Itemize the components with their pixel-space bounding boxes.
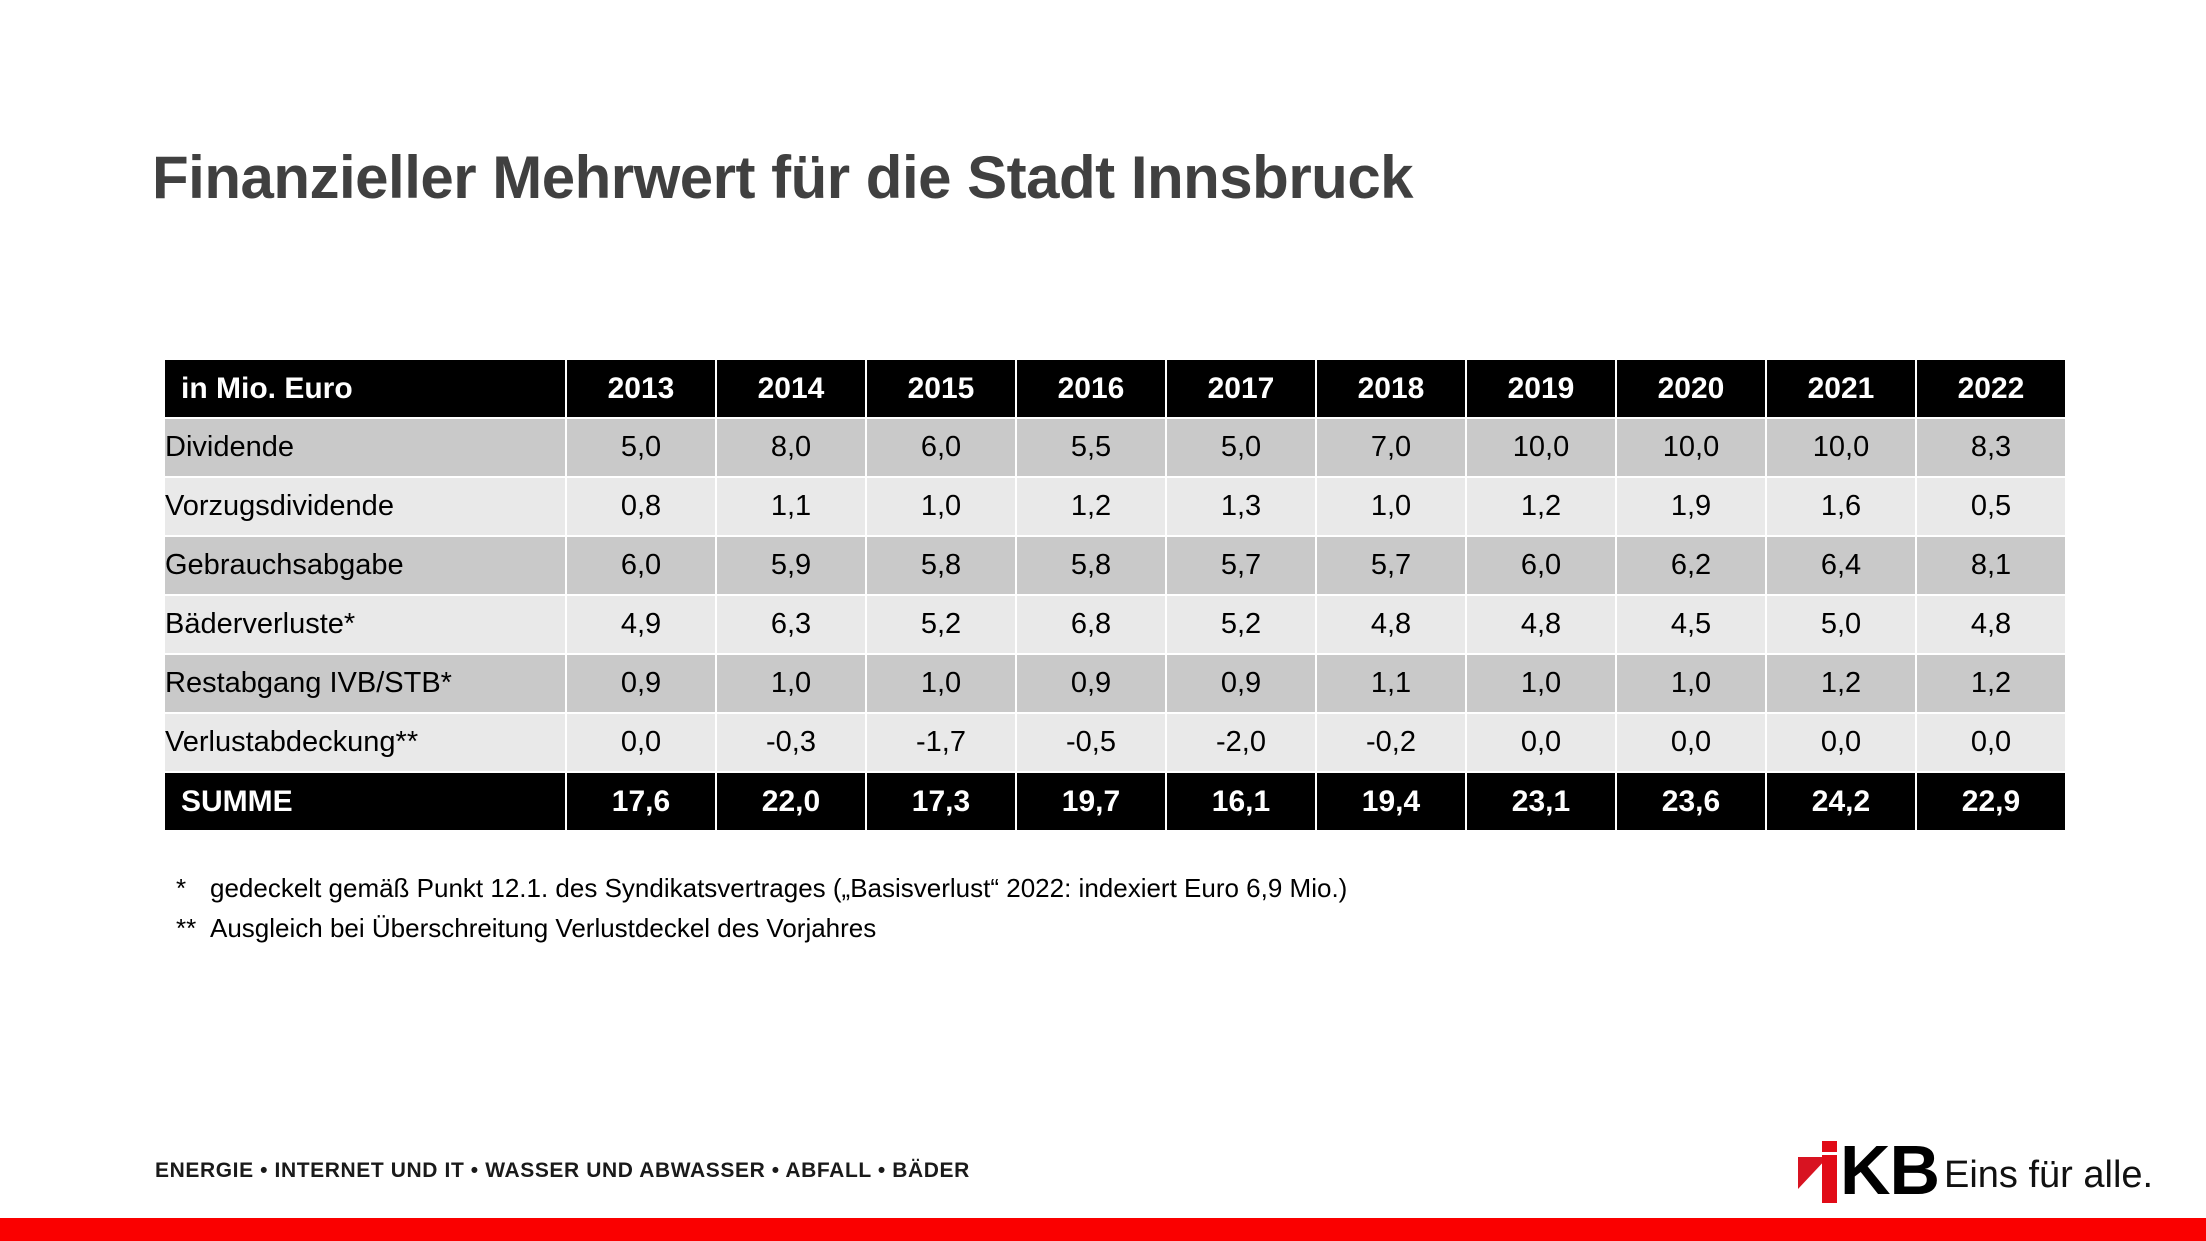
row-label: Gebrauchsabgabe <box>165 537 565 594</box>
table-cell: 1,0 <box>717 655 865 712</box>
financial-table: in Mio. Euro 2013 2014 2015 2016 2017 20… <box>163 358 2067 832</box>
table-cell: -2,0 <box>1167 714 1315 771</box>
table-cell: 6,8 <box>1017 596 1165 653</box>
table-cell: 0,0 <box>567 714 715 771</box>
footnote-text: gedeckelt gemäß Punkt 12.1. des Syndikat… <box>210 873 1347 903</box>
table-cell: 0,9 <box>1167 655 1315 712</box>
table-cell: 6,3 <box>717 596 865 653</box>
table-cell: 4,9 <box>567 596 715 653</box>
table-cell: 10,0 <box>1617 419 1765 476</box>
table-cell: 10,0 <box>1767 419 1915 476</box>
table-cell: 7,0 <box>1317 419 1465 476</box>
column-header-year: 2014 <box>717 360 865 417</box>
logo-claim: Eins für alle. <box>1944 1148 2153 1197</box>
table-cell: 6,2 <box>1617 537 1765 594</box>
table-cell: 0,9 <box>1017 655 1165 712</box>
logo-i-stem <box>1822 1155 1837 1203</box>
table-cell: 1,2 <box>1467 478 1615 535</box>
table-cell: 1,0 <box>867 478 1015 535</box>
table-row: Verlustabdeckung** 0,0 -0,3 -1,7 -0,5 -2… <box>165 714 2065 771</box>
table-cell: 6,4 <box>1767 537 1915 594</box>
table-header-row: in Mio. Euro 2013 2014 2015 2016 2017 20… <box>165 360 2065 417</box>
footnote-item: *gedeckelt gemäß Punkt 12.1. des Syndika… <box>176 868 1347 908</box>
table-cell: 8,3 <box>1917 419 2065 476</box>
row-label-total: SUMME <box>165 773 565 830</box>
table-cell-total: 23,1 <box>1467 773 1615 830</box>
ikb-logo: KB Eins für alle. <box>1798 1139 2153 1205</box>
column-header-year: 2021 <box>1767 360 1915 417</box>
table-row: Gebrauchsabgabe 6,0 5,9 5,8 5,8 5,7 5,7 … <box>165 537 2065 594</box>
table-cell: 5,9 <box>717 537 865 594</box>
column-header-year: 2016 <box>1017 360 1165 417</box>
row-label: Restabgang IVB/STB* <box>165 655 565 712</box>
table-cell: 1,2 <box>1017 478 1165 535</box>
table-cell: 0,0 <box>1467 714 1615 771</box>
table-cell: 1,9 <box>1617 478 1765 535</box>
table-cell: 5,0 <box>1767 596 1915 653</box>
table-cell: 0,0 <box>1917 714 2065 771</box>
table-cell: 6,0 <box>867 419 1015 476</box>
table-row: Vorzugsdividende 0,8 1,1 1,0 1,2 1,3 1,0… <box>165 478 2065 535</box>
column-header-unit: in Mio. Euro <box>165 360 565 417</box>
table-cell: 0,8 <box>567 478 715 535</box>
table-cell: 8,1 <box>1917 537 2065 594</box>
table-cell: 5,0 <box>1167 419 1315 476</box>
table-cell-total: 16,1 <box>1167 773 1315 830</box>
table-cell: 5,8 <box>1017 537 1165 594</box>
table-cell: -0,5 <box>1017 714 1165 771</box>
row-label: Bäderverluste* <box>165 596 565 653</box>
table-cell: 4,5 <box>1617 596 1765 653</box>
footnote-item: **Ausgleich bei Überschreitung Verlustde… <box>176 908 1347 948</box>
table-cell: 5,7 <box>1317 537 1465 594</box>
table-cell: 1,2 <box>1917 655 2065 712</box>
table-cell-total: 22,9 <box>1917 773 2065 830</box>
table-cell: 1,6 <box>1767 478 1915 535</box>
page-title: Finanzieller Mehrwert für die Stadt Inns… <box>152 143 1413 212</box>
footnote-marker: * <box>176 868 210 908</box>
table-cell-total: 23,6 <box>1617 773 1765 830</box>
ikb-logo-mark: KB <box>1798 1141 1914 1203</box>
table-cell: 1,0 <box>1467 655 1615 712</box>
table-cell: 5,0 <box>567 419 715 476</box>
column-header-year: 2017 <box>1167 360 1315 417</box>
table-cell: 1,1 <box>1317 655 1465 712</box>
table-cell-total: 17,6 <box>567 773 715 830</box>
column-header-year: 2019 <box>1467 360 1615 417</box>
table-cell: 0,0 <box>1617 714 1765 771</box>
table-cell: 5,8 <box>867 537 1015 594</box>
table-cell: 10,0 <box>1467 419 1615 476</box>
row-label: Dividende <box>165 419 565 476</box>
table-cell: -0,3 <box>717 714 865 771</box>
table-cell-total: 19,4 <box>1317 773 1465 830</box>
table-cell: -1,7 <box>867 714 1015 771</box>
footnote-marker: ** <box>176 908 210 948</box>
table-cell-total: 24,2 <box>1767 773 1915 830</box>
table-cell: 6,0 <box>567 537 715 594</box>
column-header-year: 2013 <box>567 360 715 417</box>
table-cell: 1,1 <box>717 478 865 535</box>
table-cell: 4,8 <box>1917 596 2065 653</box>
table-cell: 0,0 <box>1767 714 1915 771</box>
column-header-year: 2020 <box>1617 360 1765 417</box>
logo-wordmark: KB <box>1840 1135 1939 1205</box>
column-header-year: 2022 <box>1917 360 2065 417</box>
table-cell: 4,8 <box>1317 596 1465 653</box>
table-cell: 4,8 <box>1467 596 1615 653</box>
row-label: Vorzugsdividende <box>165 478 565 535</box>
table-cell: -0,2 <box>1317 714 1465 771</box>
table-cell: 5,5 <box>1017 419 1165 476</box>
table-cell: 1,2 <box>1767 655 1915 712</box>
table-row-total: SUMME 17,6 22,0 17,3 19,7 16,1 19,4 23,1… <box>165 773 2065 830</box>
table-row: Restabgang IVB/STB* 0,9 1,0 1,0 0,9 0,9 … <box>165 655 2065 712</box>
table-cell: 8,0 <box>717 419 865 476</box>
column-header-year: 2015 <box>867 360 1015 417</box>
table-cell: 1,0 <box>867 655 1015 712</box>
table-cell-total: 19,7 <box>1017 773 1165 830</box>
table-cell: 1,0 <box>1617 655 1765 712</box>
table-cell: 0,5 <box>1917 478 2065 535</box>
table-row: Dividende 5,0 8,0 6,0 5,5 5,0 7,0 10,0 1… <box>165 419 2065 476</box>
table-cell: 1,3 <box>1167 478 1315 535</box>
table-cell: 6,0 <box>1467 537 1615 594</box>
footer-services-tagline: ENERGIE • INTERNET UND IT • WASSER UND A… <box>155 1159 970 1183</box>
logo-i-dot <box>1822 1141 1837 1152</box>
table-cell-total: 17,3 <box>867 773 1015 830</box>
table-cell: 5,2 <box>1167 596 1315 653</box>
table-cell: 5,2 <box>867 596 1015 653</box>
row-label: Verlustabdeckung** <box>165 714 565 771</box>
financial-table-container: in Mio. Euro 2013 2014 2015 2016 2017 20… <box>163 358 2043 832</box>
table-cell: 5,7 <box>1167 537 1315 594</box>
column-header-year: 2018 <box>1317 360 1465 417</box>
footnote-text: Ausgleich bei Überschreitung Verlustdeck… <box>210 913 876 943</box>
footnotes: *gedeckelt gemäß Punkt 12.1. des Syndika… <box>176 868 1347 948</box>
table-row: Bäderverluste* 4,9 6,3 5,2 6,8 5,2 4,8 4… <box>165 596 2065 653</box>
table-cell: 1,0 <box>1317 478 1465 535</box>
table-cell: 0,9 <box>567 655 715 712</box>
table-cell-total: 22,0 <box>717 773 865 830</box>
bottom-red-bar <box>0 1218 2206 1241</box>
